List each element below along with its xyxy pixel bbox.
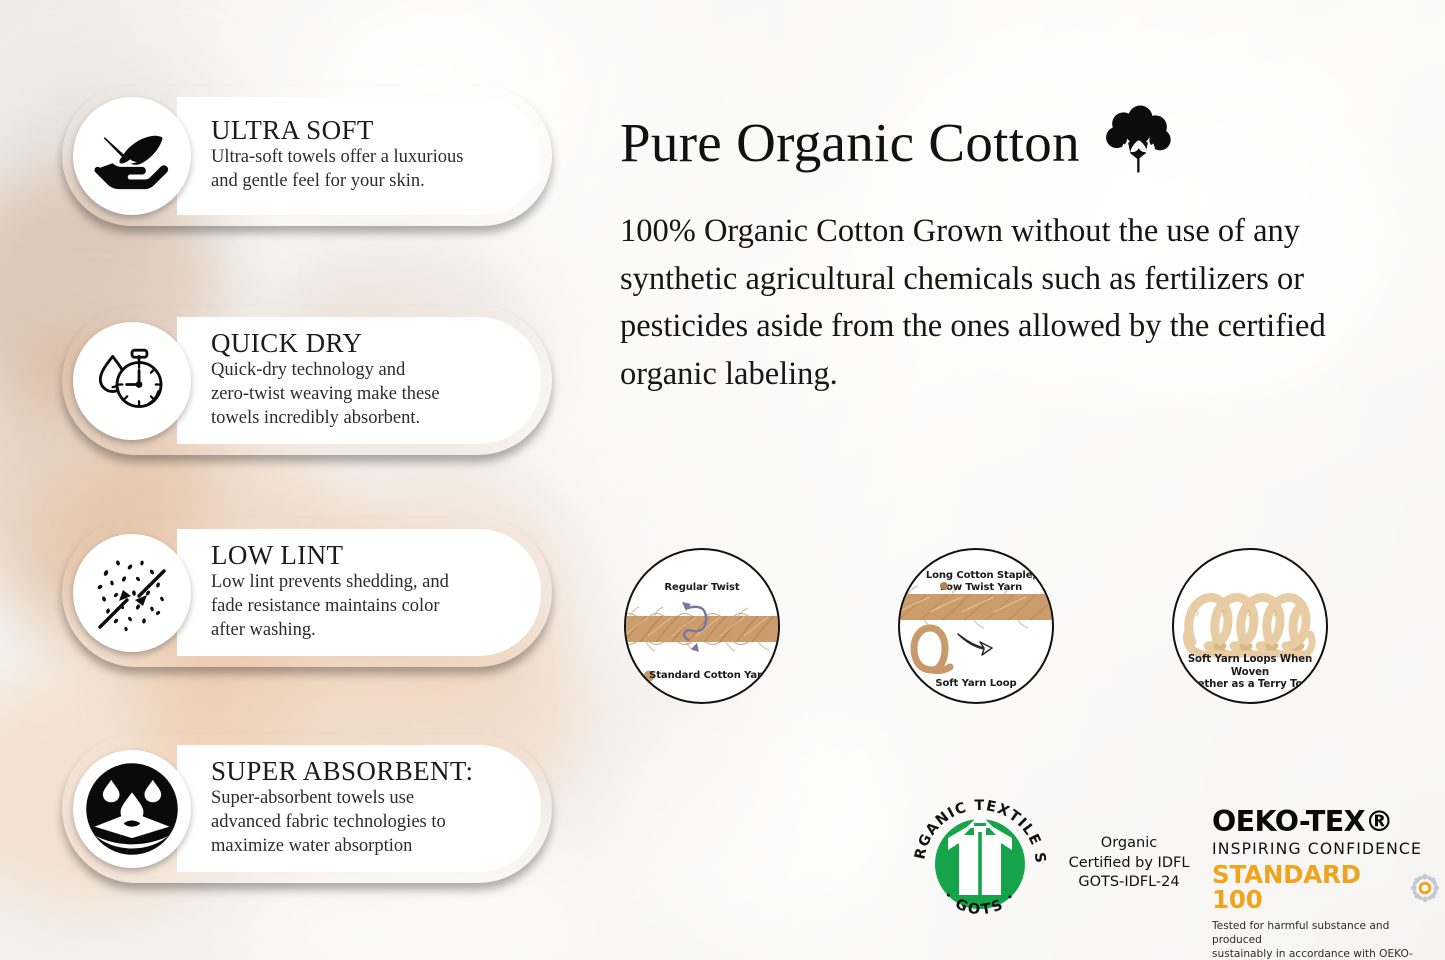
feature-desc-line: fade resistance maintains color	[211, 595, 515, 619]
oeko-tex-subtitle: INSPIRING CONFIDENCE	[1212, 842, 1440, 858]
yarn-top-label: Long Cotton Staple, Low Twist Yarn	[900, 570, 1052, 595]
intro-paragraph: 100% Organic Cotton Grown without the us…	[620, 208, 1420, 398]
feature-card-quick-dry[interactable]: QUICK DRY Quick-dry technology and zero-…	[62, 306, 552, 455]
feature-description: Super-absorbent towels use advanced fabr…	[211, 787, 515, 858]
feature-title: SUPER ABSORBENT:	[211, 757, 515, 786]
feature-card-ultra-soft[interactable]: ULTRA SOFT Ultra-soft towels offer a lux…	[62, 86, 552, 226]
feature-title: QUICK DRY	[211, 329, 515, 358]
certification-strip: GLOBAL ORGANIC TEXTILE STANDARD · GOTS ·…	[612, 782, 1442, 960]
feature-desc-line: advanced fabric technologies to	[211, 811, 515, 835]
feature-card-list: ULTRA SOFT Ultra-soft towels offer a lux…	[18, 0, 578, 960]
feature-desc-line: Super-absorbent towels use	[211, 787, 515, 811]
feature-desc-line: Ultra-soft towels offer a luxurious	[211, 146, 515, 170]
droplet-stopwatch-icon	[73, 322, 191, 440]
feature-desc-line: Low lint prevents shedding, and	[211, 571, 515, 595]
yarn-bottom-label: Soft Yarn Loop	[900, 678, 1052, 690]
right-panel: Pure Organic Cotton	[612, 0, 1432, 960]
feature-title: LOW LINT	[211, 541, 515, 570]
feature-desc-line: zero-twist weaving make these	[211, 383, 515, 407]
idfl-line: GOTS-IDFL-24	[1060, 873, 1198, 893]
oeko-tex-fine-print: Tested for harmful substance and produce…	[1212, 919, 1438, 960]
idfl-line: Certified by IDFL	[1060, 854, 1198, 874]
headline-row: Pure Organic Cotton	[620, 104, 1176, 180]
feature-description: Ultra-soft towels offer a luxurious and …	[211, 146, 515, 193]
feature-card-body: SUPER ABSORBENT: Super-absorbent towels …	[177, 745, 541, 872]
made-in-green-flower-icon	[1410, 873, 1440, 903]
feature-desc-line: and gentle feel for your skin.	[211, 170, 515, 194]
yarn-top-label-line: Long Cotton Staple,	[910, 570, 1052, 582]
feature-desc-line: after washing.	[211, 619, 515, 643]
yarn-diagram-low-twist: Long Cotton Staple, Low Twist Yarn Soft …	[898, 548, 1054, 704]
idfl-line: Organic	[1060, 834, 1198, 854]
yarn-top-label-line: Low Twist Yarn	[910, 582, 1052, 594]
yarn-bottom-label: Standard Cotton Yarn	[626, 670, 778, 682]
page-title: Pure Organic Cotton	[620, 115, 1080, 170]
oeko-tex-standard: STANDARD 100	[1212, 863, 1398, 912]
feature-title: ULTRA SOFT	[211, 116, 515, 145]
feather-in-hand-icon	[73, 97, 191, 215]
gots-logo: GLOBAL ORGANIC TEXTILE STANDARD · GOTS ·	[904, 788, 1056, 940]
yarn-bottom-label-line: Together as a Terry Towel	[1174, 679, 1326, 692]
feature-desc-line: maximize water absorption	[211, 835, 515, 859]
cotton-boll-icon	[1100, 104, 1176, 180]
oeko-fine-line: sustainably in accordance with OEKO-TEX®	[1212, 947, 1438, 960]
yarn-diagram-row: Regular Twist Standard Cotton Yarn	[612, 540, 1432, 720]
feature-card-low-lint[interactable]: LOW LINT Low lint prevents shedding, and…	[62, 518, 552, 667]
oeko-tex-standard-row: STANDARD 100	[1212, 863, 1440, 912]
oeko-fine-line: Tested for harmful substance and produce…	[1212, 919, 1438, 947]
yarn-diagram-regular-twist: Regular Twist Standard Cotton Yarn	[624, 548, 780, 704]
yarn-bottom-label-line: Soft Yarn Loops When Woven	[1174, 654, 1326, 679]
oeko-tex-logo-block: OEKO-TEX® INSPIRING CONFIDENCE STANDARD …	[1212, 808, 1440, 960]
yarn-diagram-terry-loops: Soft Yarn Loops When Woven Together as a…	[1172, 548, 1328, 704]
feature-card-super-absorbent[interactable]: SUPER ABSORBENT: Super-absorbent towels …	[62, 734, 552, 883]
oeko-tex-title: OEKO-TEX®	[1212, 808, 1440, 837]
yarn-top-label: Regular Twist	[626, 582, 778, 594]
feature-card-body: ULTRA SOFT Ultra-soft towels offer a lux…	[177, 97, 541, 215]
feature-description: Quick-dry technology and zero-twist weav…	[211, 359, 515, 430]
feature-card-body: LOW LINT Low lint prevents shedding, and…	[177, 529, 541, 656]
idfl-certification-text: Organic Certified by IDFL GOTS-IDFL-24	[1060, 834, 1198, 893]
lint-particles-icon	[73, 534, 191, 652]
water-absorption-fabric-icon	[73, 750, 191, 868]
feature-card-body: QUICK DRY Quick-dry technology and zero-…	[177, 317, 541, 444]
feature-desc-line: towels incredibly absorbent.	[211, 407, 515, 431]
infographic-canvas: ULTRA SOFT Ultra-soft towels offer a lux…	[0, 0, 1445, 960]
yarn-bottom-label: Soft Yarn Loops When Woven Together as a…	[1174, 654, 1326, 692]
feature-description: Low lint prevents shedding, and fade res…	[211, 571, 515, 642]
feature-desc-line: Quick-dry technology and	[211, 359, 515, 383]
